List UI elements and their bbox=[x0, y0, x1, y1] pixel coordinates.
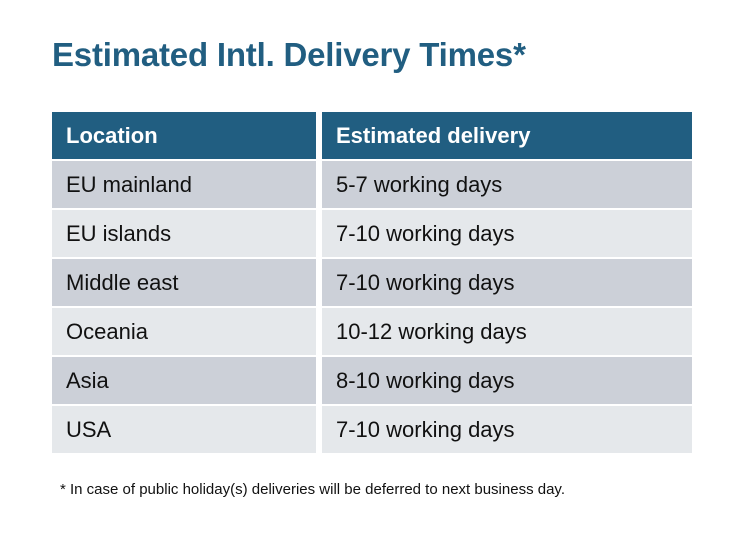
cell-location: EU mainland bbox=[52, 161, 316, 208]
table-row: EU mainland 5-7 working days bbox=[52, 161, 692, 208]
cell-estimated-delivery: 7-10 working days bbox=[322, 210, 692, 257]
table-header-row: Location Estimated delivery bbox=[52, 112, 692, 159]
table-row: EU islands 7-10 working days bbox=[52, 210, 692, 257]
cell-location: EU islands bbox=[52, 210, 316, 257]
delivery-times-table: Location Estimated delivery EU mainland … bbox=[52, 112, 692, 453]
delivery-times-panel: Estimated Intl. Delivery Times* Location… bbox=[0, 0, 745, 536]
column-header-estimated-delivery: Estimated delivery bbox=[322, 112, 692, 159]
page-title: Estimated Intl. Delivery Times* bbox=[52, 36, 526, 74]
cell-estimated-delivery: 7-10 working days bbox=[322, 259, 692, 306]
column-header-location: Location bbox=[52, 112, 316, 159]
footnote-text: * In case of public holiday(s) deliverie… bbox=[60, 481, 565, 498]
table-row: Middle east 7-10 working days bbox=[52, 259, 692, 306]
table-row: USA 7-10 working days bbox=[52, 406, 692, 453]
cell-estimated-delivery: 10-12 working days bbox=[322, 308, 692, 355]
cell-estimated-delivery: 5-7 working days bbox=[322, 161, 692, 208]
cell-location: Oceania bbox=[52, 308, 316, 355]
cell-location: USA bbox=[52, 406, 316, 453]
cell-location: Middle east bbox=[52, 259, 316, 306]
table-row: Asia 8-10 working days bbox=[52, 357, 692, 404]
cell-estimated-delivery: 7-10 working days bbox=[322, 406, 692, 453]
cell-location: Asia bbox=[52, 357, 316, 404]
table-row: Oceania 10-12 working days bbox=[52, 308, 692, 355]
cell-estimated-delivery: 8-10 working days bbox=[322, 357, 692, 404]
